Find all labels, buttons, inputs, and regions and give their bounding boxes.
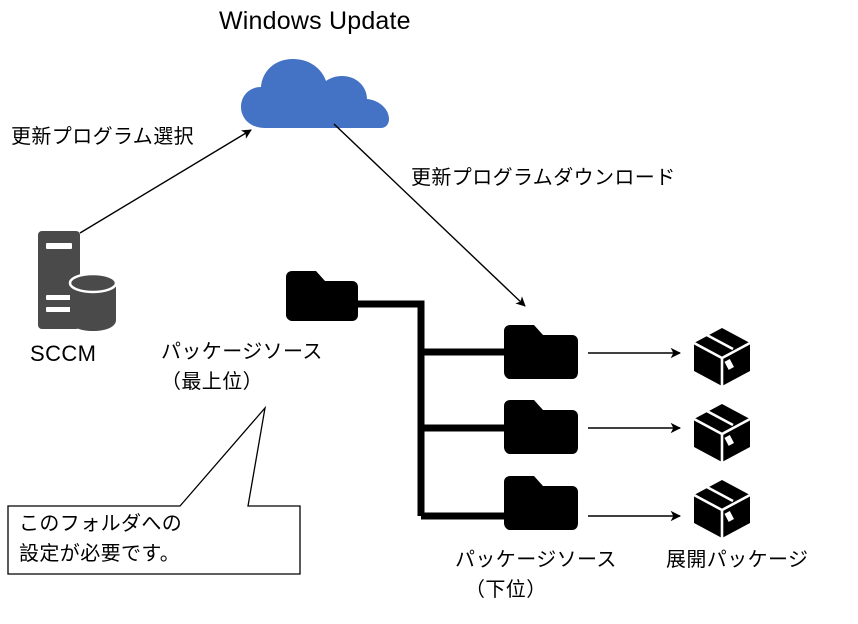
arrow-cloud-to-folder — [334, 124, 525, 306]
edge-label-download-updates: 更新プログラムダウンロード — [411, 166, 676, 190]
node-label-package-source-top-line1: パッケージソース — [161, 340, 323, 364]
folder-icon-root — [286, 271, 358, 321]
database-icon — [70, 274, 116, 331]
edge-label-select-updates: 更新プログラム選択 — [11, 125, 194, 149]
package-box-icon-1 — [694, 328, 750, 386]
tree-connectors — [352, 304, 507, 516]
folder-icon-sub-3 — [504, 476, 578, 530]
package-box-icon-3 — [694, 480, 750, 538]
folder-icon-sub-2 — [504, 400, 578, 454]
node-label-package-source-top-line2: （最上位） — [161, 370, 263, 394]
folder-icon-sub-1 — [504, 325, 578, 379]
diagram-canvas: Windows Update 更新プログラム選択 更新プログラムダウンロード S… — [0, 0, 858, 624]
callout-text-line1: このフォルダへの — [19, 512, 182, 536]
node-label-deploy-package: 展開パッケージ — [666, 548, 808, 572]
cloud-icon — [241, 59, 389, 128]
arrows-folder-to-package — [588, 353, 680, 516]
page-title: Windows Update — [219, 6, 411, 37]
node-label-sccm: SCCM — [30, 341, 96, 368]
callout-text-line2: 設定が必要です。 — [19, 542, 180, 566]
package-box-icon-2 — [694, 404, 750, 462]
node-label-package-source-sub-line1: パッケージソース — [455, 548, 617, 572]
node-label-package-source-sub-line2: （下位） — [465, 578, 547, 602]
